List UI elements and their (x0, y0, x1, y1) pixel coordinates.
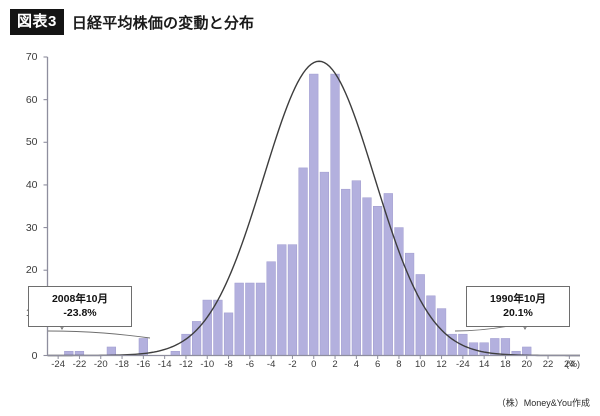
histogram-bar (245, 283, 254, 355)
low-outlier-value: -23.8% (35, 306, 125, 320)
histogram-bar (384, 193, 393, 355)
histogram-bar (267, 262, 276, 356)
high-outlier-value: 20.1% (473, 306, 563, 320)
histogram-bar (320, 172, 329, 355)
histogram-bar (352, 181, 361, 356)
histogram-bar (363, 198, 372, 356)
figure-container: 図表3 日経平均株価の変動と分布 010203040506070 -24-22-… (0, 0, 600, 416)
histogram-bar (416, 274, 425, 355)
y-axis-tick-label: 70 (10, 52, 38, 63)
histogram-bar (224, 313, 233, 356)
histogram-bar (373, 206, 382, 355)
low-outlier-date: 2008年10月 (35, 292, 125, 306)
histogram-bar (299, 168, 308, 356)
y-axis-tick-label: 30 (10, 223, 38, 234)
histogram-bar (331, 74, 340, 355)
histogram-bar (522, 347, 531, 356)
histogram-bar (395, 228, 404, 356)
histogram-bar (309, 74, 318, 355)
histogram-bar (427, 296, 436, 356)
histogram-bar (214, 300, 223, 355)
histogram-bars (64, 74, 531, 355)
histogram-bar (288, 245, 297, 356)
histogram-bar (235, 283, 244, 355)
source-credit: （株）Money&You作成 (497, 396, 590, 409)
histogram-bar (203, 300, 212, 355)
histogram-bar (480, 343, 489, 356)
y-axis-tick-label: 20 (10, 265, 38, 276)
histogram-bar (341, 189, 350, 355)
histogram-bar (501, 338, 510, 355)
histogram-bar (256, 283, 265, 355)
x-axis-unit-label: (%) (566, 360, 580, 369)
chart-plot-area: 010203040506070 -24-22-20-18-16-14-12-10… (0, 0, 600, 416)
chart-svg (0, 0, 600, 416)
high-outlier-date: 1990年10月 (473, 292, 563, 306)
callout-connector (48, 331, 150, 338)
histogram-bar (277, 245, 286, 356)
y-axis-tick-label: 40 (10, 180, 38, 191)
y-axis-tick-label: 50 (10, 137, 38, 148)
histogram-bar (107, 347, 116, 356)
low-outlier-callout: 2008年10月 -23.8% (28, 286, 132, 327)
y-axis-tick-label: 0 (10, 351, 38, 362)
high-outlier-callout: 1990年10月 20.1% (466, 286, 570, 327)
histogram-bar (405, 253, 414, 355)
y-axis-tick-label: 60 (10, 95, 38, 106)
